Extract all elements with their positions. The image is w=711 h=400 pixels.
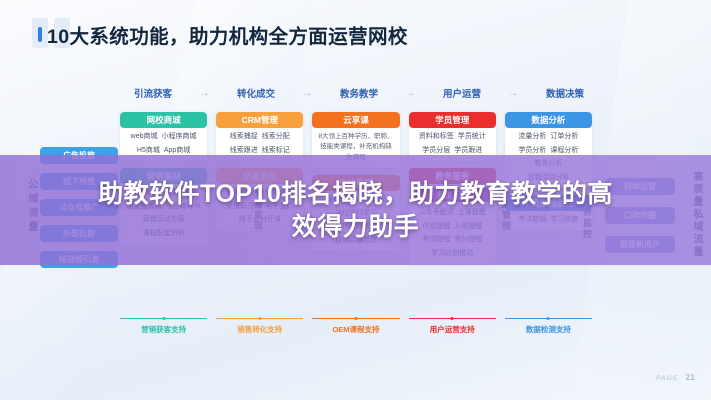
slide-heading: 10大系统功能，助力机构全方面运营网校 xyxy=(38,20,408,49)
feature-card-cell: 线索捕捉 xyxy=(230,132,258,143)
page-number: PAGE 21 xyxy=(656,372,695,382)
flow-step-row: 引流获客→转化成交→教务教学→用户运营→数据决策 xyxy=(134,86,584,100)
feature-card-title: 网校商城 xyxy=(120,112,207,128)
feature-card-cell: 线索分配 xyxy=(262,132,290,143)
flow-step-1: 引流获客 xyxy=(134,86,172,100)
support-item-5: 数据检测支持 xyxy=(505,318,592,335)
feature-card-title: CRM管理 xyxy=(216,112,303,128)
flow-step-4: 用户运营 xyxy=(443,86,481,100)
slide-canvas: 10大系统功能，助力机构全方面运营网校 引流获客→转化成交→教务教学→用户运营→… xyxy=(0,0,711,400)
support-item-1: 营销获客支持 xyxy=(120,318,207,335)
support-label: 用户运营支持 xyxy=(430,324,475,335)
overlay-title-line-2: 效得力助手 xyxy=(292,213,420,243)
feature-card-cell: 订单分析 xyxy=(550,132,578,143)
feature-card-cell: 学员统计 xyxy=(458,132,486,143)
feature-card-cell: 资料和标签 xyxy=(419,132,454,143)
support-item-3: OEM课程支持 xyxy=(312,318,399,335)
support-label: 销售转化支持 xyxy=(237,324,282,335)
feature-card[interactable]: 学员管理资料和标签学员统计学员分层学员跟进 xyxy=(409,112,496,161)
overlay-title: 助教软件TOP10排名揭晓，助力教育教学的高 效得力助手 xyxy=(0,158,711,264)
feature-card-title: 数据分析 xyxy=(505,112,592,128)
flow-arrow-icon: → xyxy=(481,88,546,99)
page-number-value: 21 xyxy=(686,372,695,382)
support-connector-line xyxy=(312,318,399,319)
support-connector-line xyxy=(505,318,592,319)
page-number-label: PAGE xyxy=(656,375,678,382)
support-row: 营销获客支持销售转化支持OEM课程支持用户运营支持数据检测支持 xyxy=(120,318,592,335)
support-connector-line xyxy=(409,318,496,319)
support-label: 数据检测支持 xyxy=(526,324,571,335)
feature-card-cell: 小程序商城 xyxy=(162,132,197,143)
heading-text: 10大系统功能，助力机构全方面运营网校 xyxy=(47,20,408,49)
feature-card-cell: 流量分析 xyxy=(518,132,546,143)
feature-card[interactable]: CRM管理线索捕捉线索分配线索跟进线索标记 xyxy=(216,112,303,161)
flow-step-2: 转化成交 xyxy=(237,86,275,100)
overlay-title-line-1: 助教软件TOP10排名揭晓，助力教育教学的高 xyxy=(98,180,613,210)
feature-card[interactable]: 网校商城web商城小程序商城H5商城App商城 xyxy=(120,112,207,161)
flow-arrow-icon: → xyxy=(172,88,237,99)
feature-card-title: 学员管理 xyxy=(409,112,496,128)
flow-arrow-icon: → xyxy=(275,88,340,99)
support-item-2: 销售转化支持 xyxy=(216,318,303,335)
feature-card-cell: web商城 xyxy=(131,132,158,143)
support-label: OEM课程支持 xyxy=(332,324,379,335)
support-connector-line xyxy=(120,318,207,319)
flow-step-5: 数据决策 xyxy=(546,86,584,100)
support-item-4: 用户运营支持 xyxy=(409,318,496,335)
support-label: 营销获客支持 xyxy=(141,324,186,335)
flow-arrow-icon: → xyxy=(378,88,443,99)
heading-accent-tick-icon xyxy=(38,27,42,42)
support-connector-line xyxy=(216,318,303,319)
flow-step-3: 教务教学 xyxy=(340,86,378,100)
feature-card-title: 云享课 xyxy=(312,112,399,128)
